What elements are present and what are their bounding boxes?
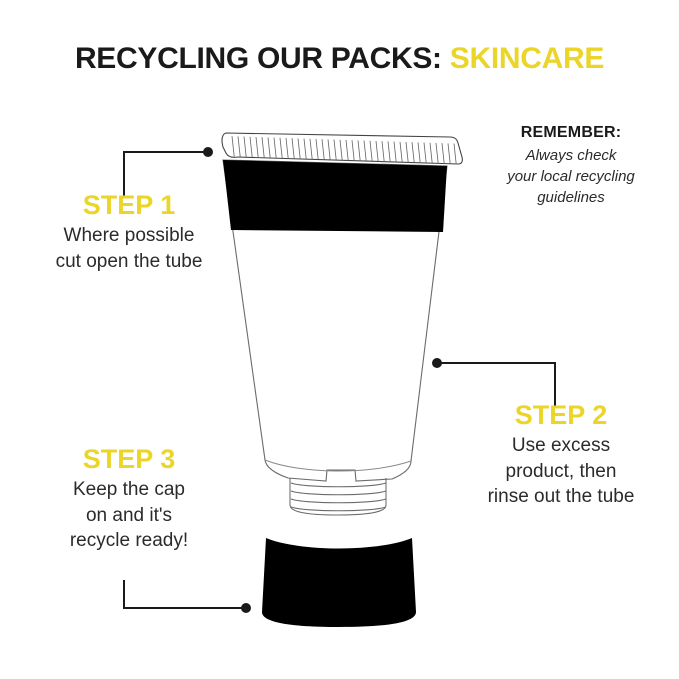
step-1-label: STEP 1 [14, 190, 244, 220]
tube-neck-threads-icon [290, 478, 386, 515]
step-1-line-1: Where possible [14, 223, 244, 248]
remember-line-1: Always check [476, 145, 666, 166]
cut-off-crimped-strip-icon [222, 133, 462, 164]
step-3-line-3: recycle ready! [20, 528, 238, 553]
tube-black-band [223, 160, 447, 232]
leader-step3-dot [241, 603, 251, 613]
step-3-line-1: Keep the cap [20, 477, 238, 502]
remember-heading: REMEMBER: [476, 122, 666, 144]
leader-step3 [124, 580, 251, 613]
step-2-label: STEP 2 [452, 400, 670, 430]
thread-line-4 [291, 507, 386, 511]
thread-line-3 [291, 499, 386, 503]
step-2-line-3: rinse out the tube [452, 484, 670, 509]
callout-step-1: STEP 1 Where possible cut open the tube [14, 190, 244, 274]
skincare-tube-illustration [0, 0, 679, 679]
remember-note: REMEMBER: Always check your local recycl… [476, 122, 666, 208]
callout-step-3: STEP 3 Keep the cap on and it's recycle … [20, 444, 238, 553]
tube-body-icon [223, 160, 447, 481]
thread-line-1 [291, 483, 386, 487]
infographic-canvas: RECYCLING OUR PACKS: SKINCARE [0, 0, 679, 679]
tube-cap-icon [262, 538, 416, 627]
leader-step3-path [124, 580, 244, 608]
callout-step-2: STEP 2 Use excess product, then rinse ou… [452, 400, 670, 509]
remember-line-2: your local recycling [476, 166, 666, 187]
leader-step1-dot [203, 147, 213, 157]
step-3-label: STEP 3 [20, 444, 238, 474]
step-3-line-2: on and it's [20, 503, 238, 528]
remember-line-3: guidelines [476, 187, 666, 208]
thread-line-2 [291, 491, 386, 495]
leader-step2-dot [432, 358, 442, 368]
step-2-line-2: product, then [452, 459, 670, 484]
step-1-line-2: cut open the tube [14, 249, 244, 274]
step-2-line-1: Use excess [452, 433, 670, 458]
leader-step2 [432, 358, 555, 406]
